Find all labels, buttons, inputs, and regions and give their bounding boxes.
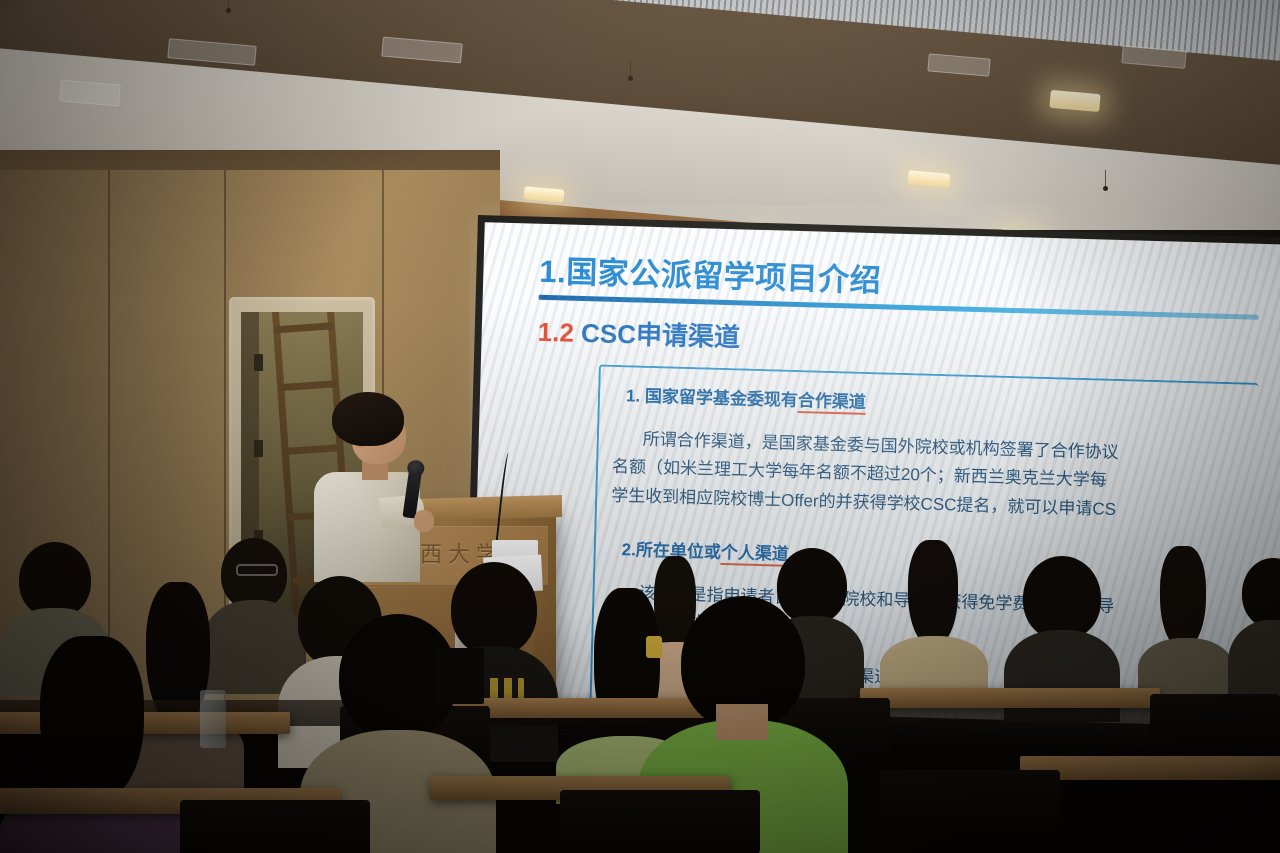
speaker-hand <box>414 510 434 532</box>
slide-section1-heading-prefix: 1. 国家留学基金委现有 <box>626 386 798 410</box>
slide-section2-heading: 2.所在单位或个人渠道 <box>621 535 1253 578</box>
presentation-slide: 1.国家公派留学项目介绍 1.2 CSC申请渠道 1. 国家留学基金委现有合作渠… <box>471 222 1280 727</box>
sprinkler-head <box>226 8 231 13</box>
lecture-hall-photo: 1.国家公派留学项目介绍 1.2 CSC申请渠道 1. 国家留学基金委现有合作渠… <box>0 0 1280 853</box>
ladder-rung <box>275 322 333 333</box>
text: 之下，渠道各有长短。走合作渠道，部分院校 <box>636 660 976 688</box>
slide-section1-heading: 1. 国家留学基金委现有合作渠道 <box>626 381 1258 424</box>
desk-foreground <box>1020 756 1280 780</box>
slide-subtitle: 1.2 CSC申请渠道 <box>537 312 1280 370</box>
sprinkler-head <box>1103 186 1108 191</box>
torso <box>300 730 496 853</box>
text: CSC网上填报 <box>607 611 711 633</box>
indent <box>613 444 643 445</box>
papers-on-podium <box>483 555 543 594</box>
speaker-shirt <box>314 472 420 582</box>
speaker-hair <box>332 392 404 446</box>
wall-seam <box>224 170 226 730</box>
wall-seam <box>108 170 110 730</box>
slide-section2-heading-prefix: 2.所在单位或 <box>621 540 721 562</box>
door-hinge <box>254 440 263 457</box>
water-bottle <box>455 614 473 666</box>
desk-foreground <box>430 776 730 800</box>
chair-back-foreground[interactable] <box>880 770 1060 830</box>
door-hinge <box>254 530 263 547</box>
projection-screen: 1.国家公派留学项目介绍 1.2 CSC申请渠道 1. 国家留学基金委现有合作渠… <box>471 222 1280 727</box>
speaker-presenter <box>318 392 428 572</box>
indent <box>608 598 638 599</box>
indent <box>606 674 636 675</box>
sprinkler-head <box>628 76 633 81</box>
chair-back-foreground[interactable] <box>180 800 370 853</box>
slide-section2-heading-underlined: 个人渠道 <box>721 543 790 567</box>
door-hinge <box>254 354 263 371</box>
text: 会相对 <box>605 716 657 727</box>
projection-screen-frame: 1.国家公派留学项目介绍 1.2 CSC申请渠道 1. 国家留学基金委现有合作渠… <box>464 215 1280 727</box>
desk-foreground <box>0 788 340 814</box>
slide-subtitle-text: CSC申请渠道 <box>581 318 741 352</box>
text: 渠道在限制且须 <box>605 688 724 710</box>
torso <box>0 792 190 853</box>
chair-back-foreground[interactable] <box>560 790 760 853</box>
ladder-rung <box>279 380 337 391</box>
torso <box>638 720 848 853</box>
slide-subtitle-number: 1.2 <box>537 317 574 348</box>
torso <box>556 736 696 804</box>
slide-content-box: 1. 国家留学基金委现有合作渠道 所谓合作渠道，是国家基金委与国外院校或机构签署… <box>588 364 1258 727</box>
podium-body <box>366 588 534 708</box>
slide-section1-heading-underlined: 合作渠道 <box>798 391 867 415</box>
